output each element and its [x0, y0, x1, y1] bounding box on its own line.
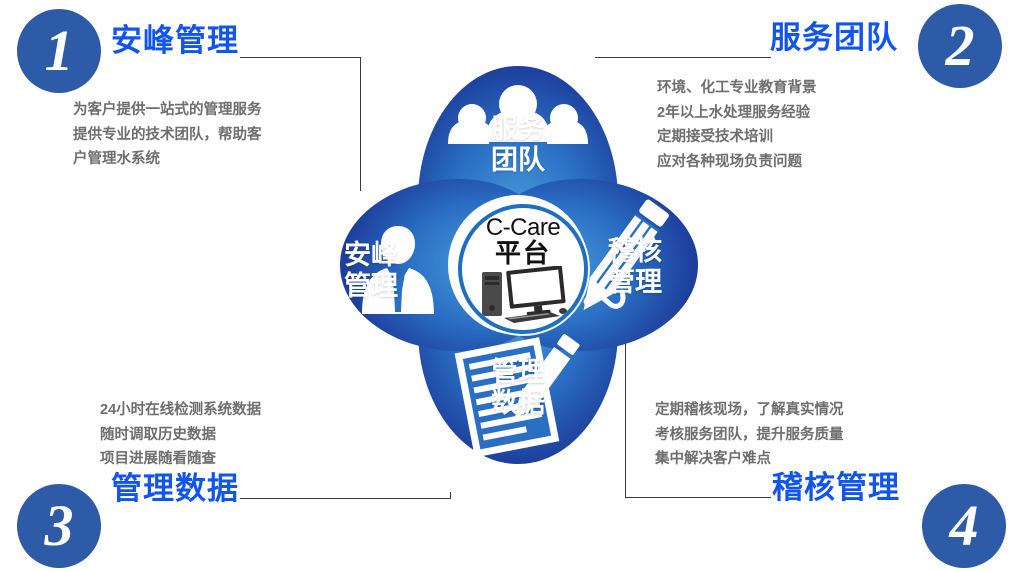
section-number-badge-4: 4	[922, 484, 1006, 568]
section-title-1: 安峰管理	[111, 25, 239, 56]
section-number-badge-3: 3	[17, 484, 101, 568]
section-number-badge-2: 2	[918, 4, 1002, 88]
petal-label-top: 服务 团队	[454, 114, 582, 176]
section-body-1: 为客户提供一站式的管理服务 提供专业的技术团队，帮助客 户管理水系统	[73, 98, 262, 172]
infographic-canvas: 1 2 3 4 安峰管理 服务团队 管理数据 稽核管理 为客户提供一站式的管理服…	[0, 0, 1010, 572]
petal-label-right: 稽核 管理	[608, 236, 704, 298]
flower-diagram: 服务 团队 稽核 管理 管理 数据 安峰 管理 C-Care 平台	[258, 8, 778, 528]
section-title-2: 服务团队	[770, 22, 898, 53]
center-brand-label: C-Care	[462, 215, 584, 240]
center-brand-cn-label: 平台	[462, 240, 584, 266]
section-title-3: 管理数据	[111, 473, 239, 504]
section-title-4: 稽核管理	[772, 472, 900, 503]
petal-label-bottom: 管理 数据	[454, 357, 582, 419]
section-body-3: 24小时在线检测系统数据 随时调取历史数据 项目进展随看随查	[100, 398, 261, 472]
petal-label-left: 安峰 管理	[344, 240, 440, 302]
center-hub-text: C-Care 平台	[462, 215, 584, 266]
section-number-badge-1: 1	[17, 9, 101, 93]
desktop-computer-icon	[480, 266, 568, 324]
center-hub: C-Care 平台	[458, 204, 588, 334]
